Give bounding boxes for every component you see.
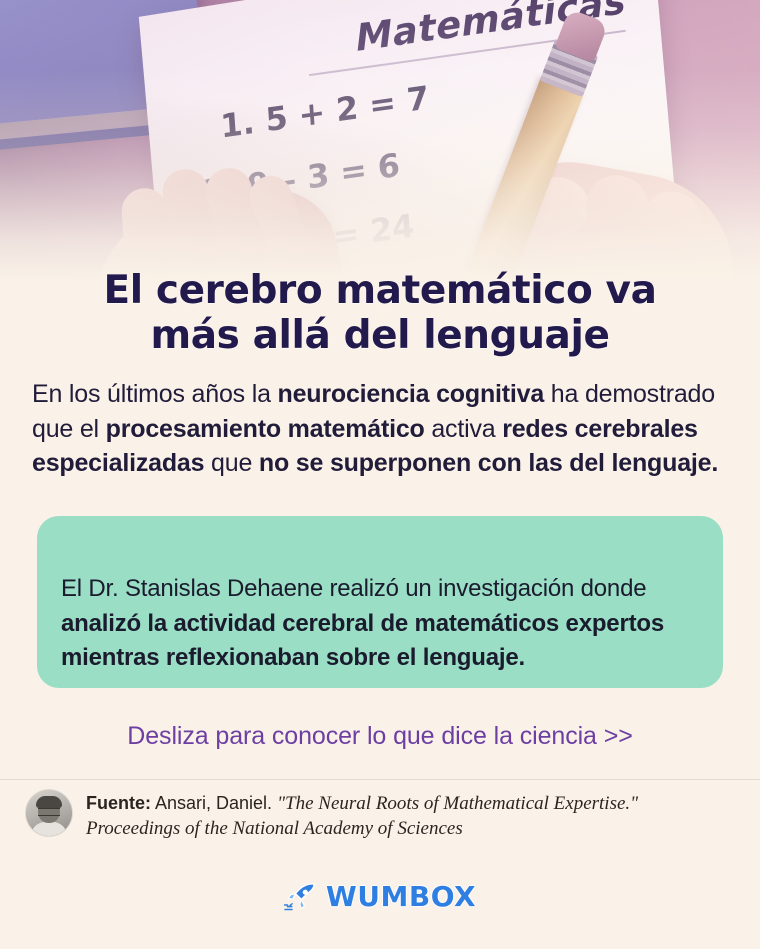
highlight-callout: El Dr. Stanislas Dehaene realizó un inve… [37,516,723,688]
callout-paragraph: El Dr. Stanislas Dehaene realizó un inve… [61,572,693,676]
swipe-cta-link[interactable]: Desliza para conocer lo que dice la cien… [0,722,760,751]
lede-part-4: que [204,449,259,477]
footer-divider [0,779,760,780]
title-line-2: más allá del lenguaje [150,313,609,358]
lede-bold-2: procesamiento matemático [106,415,425,443]
intro-paragraph: En los últimos años la neurociencia cogn… [32,377,730,481]
source-work: "The Neural Roots of Mathematical Expert… [277,793,638,814]
source-citation: Fuente: Ansari, Daniel. "The Neural Root… [26,790,736,841]
callout-bold-1: analizó la actividad cerebral de matemát… [61,610,664,672]
callout-part-1: El Dr. Stanislas Dehaene realizó un inve… [61,575,646,602]
lede-bold-4: no se superponen con las del lenguaje. [259,449,718,477]
source-author: Ansari, Daniel. [151,793,277,813]
hero-fade-overlay [0,70,760,300]
source-text: Fuente: Ansari, Daniel. "The Neural Root… [86,790,638,841]
rocket-icon [284,882,318,912]
page-title: El cerebro matemático va más allá del le… [0,269,760,358]
title-line-1: El cerebro matemático va [103,268,656,313]
infographic-card: Matemáticas 1. 5 + 2 = 7 2. 9 – 3 = 6 3.… [0,0,760,949]
hero-photo: Matemáticas 1. 5 + 2 = 7 2. 9 – 3 = 6 3.… [0,0,760,300]
source-label: Fuente: [86,793,151,813]
source-journal: Proceedings of the National Academy of S… [86,818,463,839]
lede-part-1: En los últimos años la [32,380,278,408]
lede-bold-1: neurociencia cognitiva [278,380,545,408]
lede-part-3: activa [425,415,503,443]
avatar [26,790,72,836]
brand-name: WUMBOX [326,880,476,913]
brand-logo: WUMBOX [0,880,760,913]
